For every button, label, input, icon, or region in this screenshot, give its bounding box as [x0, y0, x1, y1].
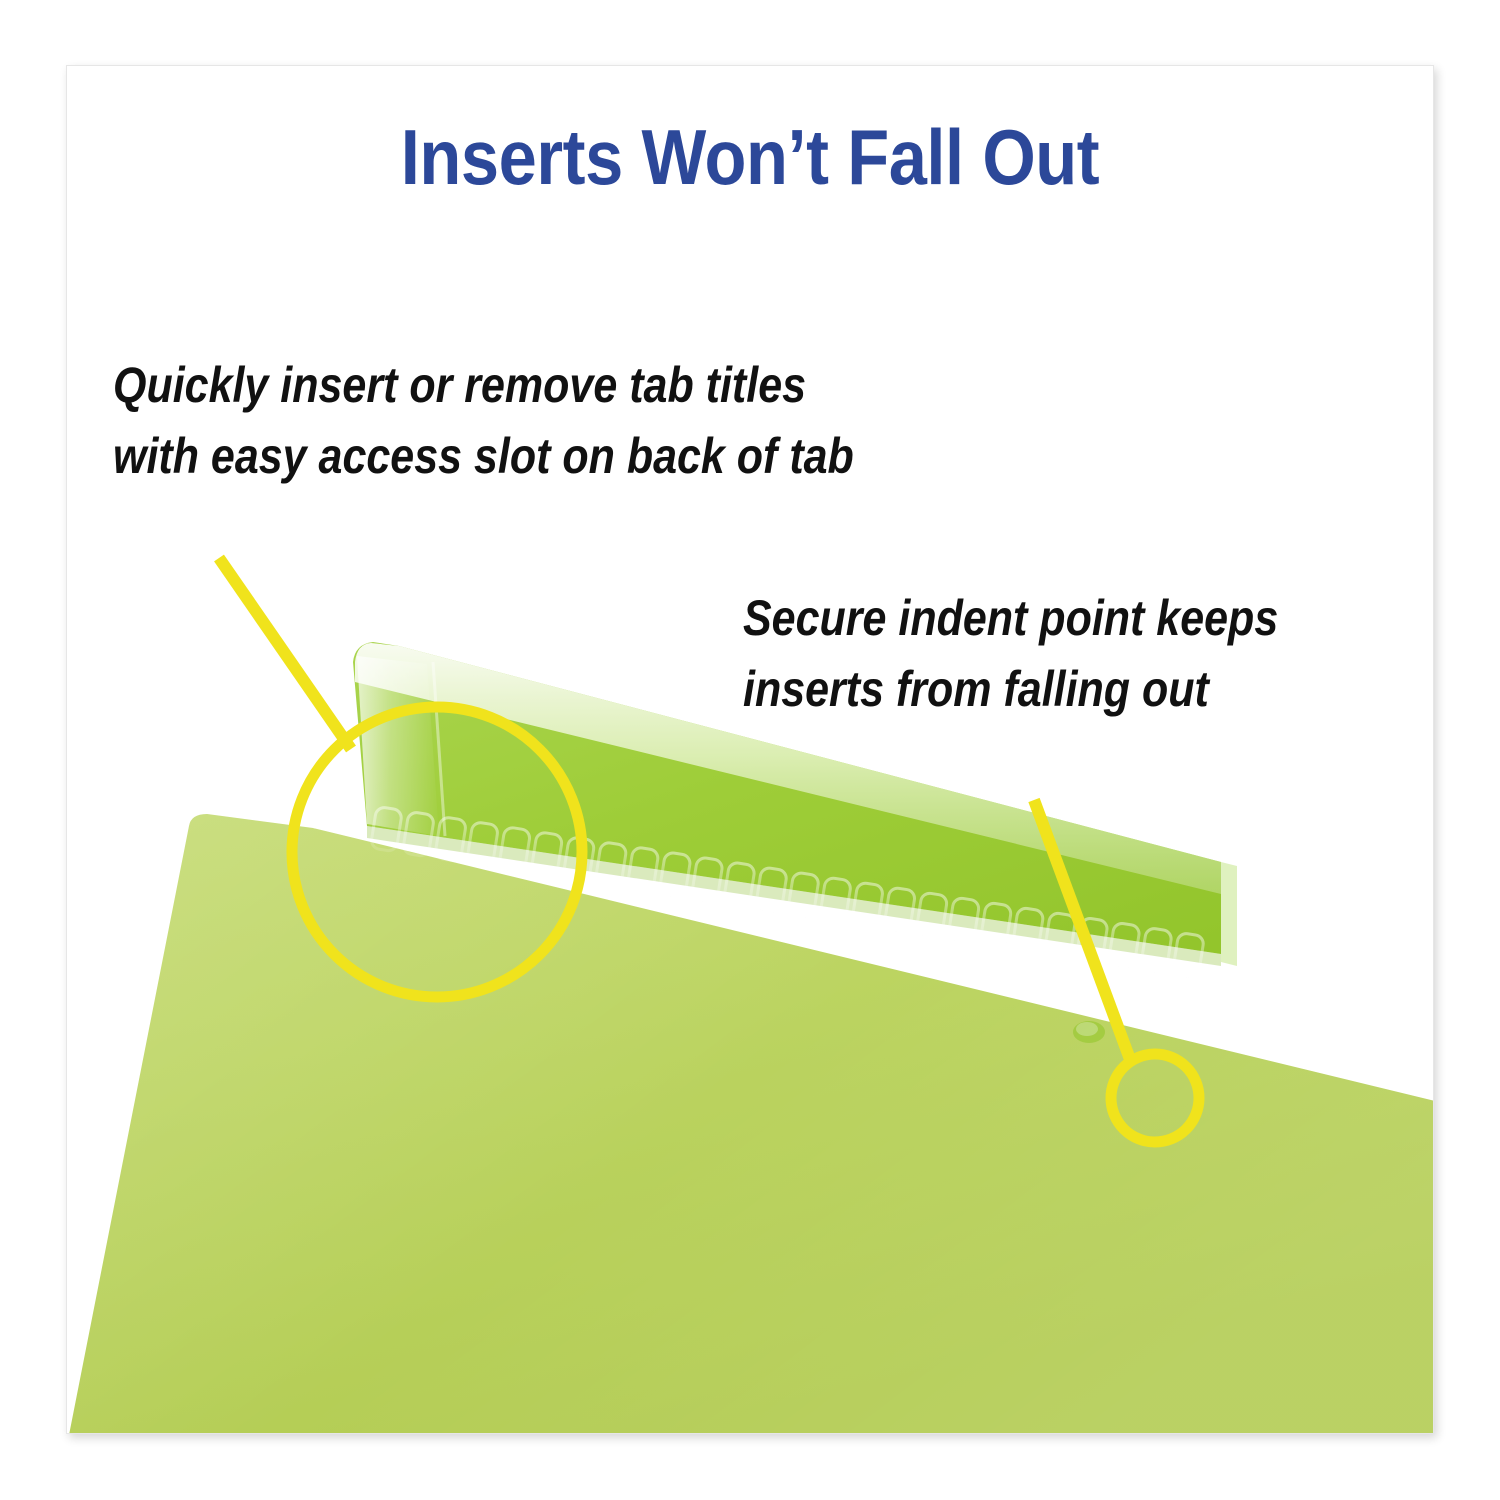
- secure-indent-point: [1073, 1021, 1105, 1043]
- tab-right-end: [1221, 862, 1237, 966]
- callout-caption-secure-indent-point: Secure indent point keeps inserts from f…: [743, 583, 1278, 725]
- callout-caption-easy-access-slot: Quickly insert or remove tab titles with…: [113, 350, 854, 492]
- page-title: Inserts Won’t Fall Out: [149, 118, 1351, 196]
- product-photo: [67, 66, 1434, 1434]
- product-feature-card: Inserts Won’t Fall Out Quickly insert or…: [66, 65, 1434, 1434]
- screenshot-root: Inserts Won’t Fall Out Quickly insert or…: [0, 0, 1500, 1500]
